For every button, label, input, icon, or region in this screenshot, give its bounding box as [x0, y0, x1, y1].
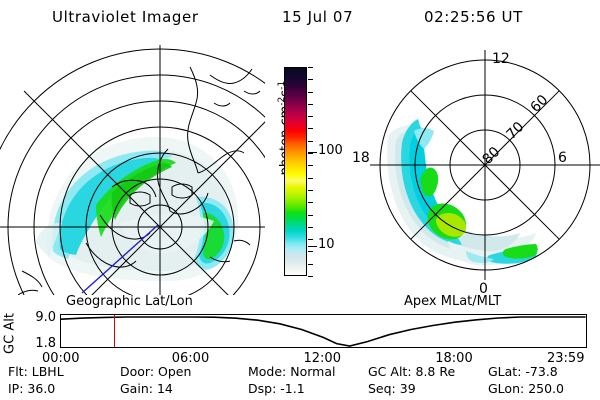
colorbar-minor-tick: [308, 141, 313, 142]
status-field-value: 39: [400, 381, 416, 396]
colorbar-minor-tick: [308, 153, 313, 154]
gc-alt-ytick-min: 1.8: [20, 336, 56, 351]
status-field-label: GLon:: [488, 381, 528, 396]
status-field: Mode: Normal: [248, 364, 335, 379]
colorbar-minor-tick: [308, 178, 313, 179]
colorbar-minor-tick: [308, 104, 313, 105]
status-row-2: IP: 36.0Gain: 14Dsp: -1.1Seq: 39GLon: 25…: [0, 381, 600, 397]
geographic-plot-canvas: [0, 45, 265, 295]
mlat-label-80: 80: [480, 144, 504, 168]
colorbar-legend[interactable]: photon cm-2s-1 10010: [268, 58, 340, 288]
colorbar-minor-tick: [308, 202, 313, 203]
apex-plot-canvas: 12 6 0 18 60 70 80: [340, 45, 600, 297]
status-field: GLat: -73.8: [488, 364, 558, 379]
colorbar-minor-tick: [308, 276, 313, 277]
status-field-label: Door:: [120, 364, 158, 379]
colorbar-minor-tick: [308, 215, 313, 216]
colorbar-minor-tick: [308, 190, 313, 191]
header-bar: Ultraviolet Imager 15 Jul 07 02:25:56 UT: [0, 6, 600, 30]
status-field-label: GC Alt:: [368, 364, 416, 379]
colorbar-minor-tick: [308, 116, 313, 117]
status-field-value: 250.0: [528, 381, 564, 396]
status-row-1: Flt: LBHLDoor: OpenMode: NormalGC Alt: 8…: [0, 364, 600, 380]
mlt-label-12: 12: [492, 51, 510, 67]
colorbar-minor-tick: [308, 79, 313, 80]
colorbar-minor-tick: [308, 251, 313, 252]
status-field-label: Dsp:: [248, 381, 280, 396]
mlat-label-70: 70: [504, 119, 528, 143]
status-field-value: Normal: [290, 364, 335, 379]
ultraviolet-imager-window: Ultraviolet Imager 15 Jul 07 02:25:56 UT: [0, 0, 600, 400]
status-field: IP: 36.0: [8, 381, 55, 396]
observation-time: 02:25:56 UT: [424, 8, 523, 26]
status-field-value: -73.8: [525, 364, 557, 379]
status-field-label: Mode:: [248, 364, 290, 379]
status-field: GLon: 250.0: [488, 381, 564, 396]
status-field: Door: Open: [120, 364, 191, 379]
colorbar-major-tick: [308, 246, 317, 248]
gc-alt-ytick-max: 9.0: [20, 310, 56, 325]
colorbar-minor-tick: [308, 227, 313, 228]
colorbar-minor-tick: [308, 165, 313, 166]
gc-alt-plot-box[interactable]: [60, 314, 587, 348]
status-field-label: GLat:: [488, 364, 525, 379]
current-time-marker: [114, 315, 115, 347]
gc-altitude-panel[interactable]: GC Alt 9.0 1.8 00:0006:0012:0018:0023:59: [0, 306, 600, 360]
colorbar-minor-tick: [308, 92, 313, 93]
colorbar-minor-tick: [308, 264, 313, 265]
status-field: GC Alt: 8.8 Re: [368, 364, 455, 379]
status-field-label: Flt:: [8, 364, 32, 379]
status-field-label: IP:: [8, 381, 27, 396]
status-field: Flt: LBHL: [8, 364, 64, 379]
status-readout-panel: Flt: LBHLDoor: OpenMode: NormalGC Alt: 8…: [0, 364, 600, 398]
mlt-label-18: 18: [352, 150, 370, 166]
colorbar-minor-tick: [308, 67, 313, 68]
colorbar-major-tick: [308, 152, 317, 154]
status-field: Gain: 14: [120, 381, 173, 396]
colorbar-minor-tick: [308, 128, 313, 129]
status-field-label: Seq:: [368, 381, 400, 396]
status-field-value: -1.1: [280, 381, 304, 396]
geographic-polar-plot[interactable]: [0, 45, 265, 295]
status-field-value: 8.8 Re: [416, 364, 456, 379]
status-field: Seq: 39: [368, 381, 416, 396]
status-field-label: Gain:: [120, 381, 157, 396]
apex-mlat-label-group: 60 70 80: [480, 92, 552, 168]
status-field-value: Open: [158, 364, 191, 379]
colorbar-gradient-fill: [285, 68, 306, 275]
status-field-value: 14: [157, 381, 173, 396]
status-field-value: 36.0: [27, 381, 55, 396]
mlt-label-6: 6: [558, 150, 567, 166]
colorbar-gradient-bar: [284, 67, 307, 276]
colorbar-minor-tick: [308, 239, 313, 240]
colorbar-tick-label: 10: [318, 240, 335, 250]
status-field: Dsp: -1.1: [248, 381, 305, 396]
aurora-emission-geographic: [36, 137, 238, 281]
observation-date: 15 Jul 07: [282, 8, 353, 26]
apex-polar-plot[interactable]: 12 6 0 18 60 70 80: [340, 45, 600, 297]
gc-alt-curve-canvas: [61, 315, 586, 347]
status-field-value: LBHL: [32, 364, 64, 379]
gc-alt-axis-label: GC Alt: [2, 312, 18, 354]
instrument-title: Ultraviolet Imager: [52, 8, 199, 26]
gc-alt-curve: [61, 317, 586, 346]
